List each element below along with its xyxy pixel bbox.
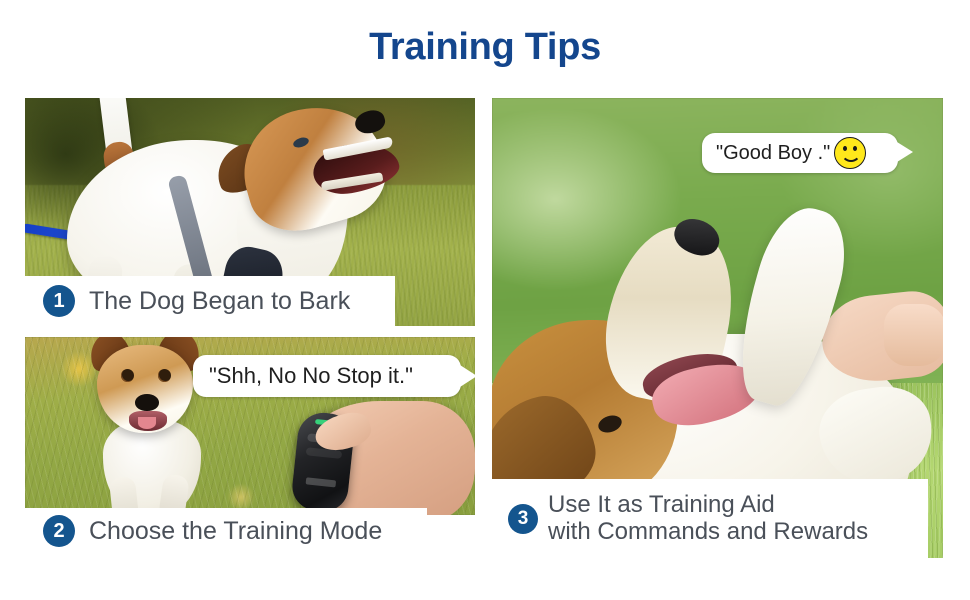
step-number-badge-3: 3 xyxy=(508,504,538,534)
remote-brand-logo xyxy=(306,477,337,487)
step-number-badge-1: 1 xyxy=(43,285,75,317)
dog-right-eye xyxy=(158,369,171,382)
speech-bubble-good-boy-text: "Good Boy ." xyxy=(716,142,830,165)
speech-bubble-tail xyxy=(897,142,913,162)
step-3-caption: 3 Use It as Training Aid with Commands a… xyxy=(492,479,928,558)
step-1-caption-text: The Dog Began to Bark xyxy=(89,287,350,316)
speech-bubble-tail xyxy=(460,365,477,387)
human-fingers xyxy=(884,304,943,366)
training-tips-infographic: Training Tips 1 The Dog Began to Bark xyxy=(0,0,970,600)
smiley-mouth xyxy=(841,149,861,162)
step-3-caption-line-1: Use It as Training Aid xyxy=(548,492,868,519)
step-1-caption: 1 The Dog Began to Bark xyxy=(25,276,395,326)
step-2-caption-text: Choose the Training Mode xyxy=(89,517,382,546)
speech-bubble-shh: "Shh, No No Stop it." xyxy=(193,355,461,397)
step-3-caption-text: Use It as Training Aid with Commands and… xyxy=(548,492,868,546)
dog-nose xyxy=(135,394,159,411)
step-3-caption-line-2: with Commands and Rewards xyxy=(548,519,868,546)
speech-bubble-shh-text: "Shh, No No Stop it." xyxy=(209,363,413,389)
dog-tongue xyxy=(138,417,156,429)
speech-bubble-good-boy: "Good Boy ." xyxy=(702,133,898,173)
step-number-badge-2: 2 xyxy=(43,515,75,547)
page-title: Training Tips xyxy=(0,26,970,69)
step-2-caption: 2 Choose the Training Mode xyxy=(25,508,427,554)
dog-left-eye xyxy=(121,369,134,382)
smiley-face-icon xyxy=(834,137,866,169)
